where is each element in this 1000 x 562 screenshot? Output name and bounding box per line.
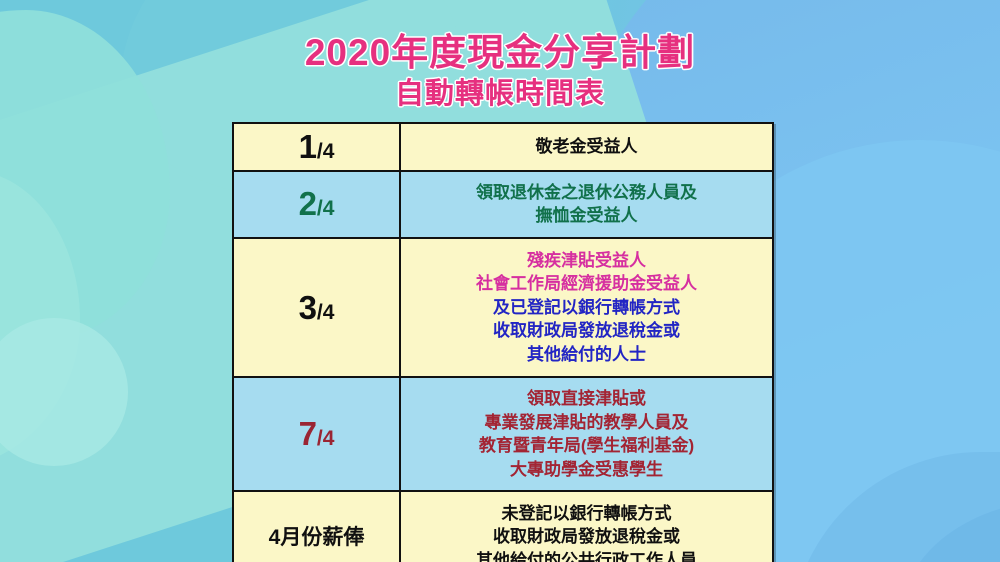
title-block: 2020年度現金分享計劃 自動轉帳時間表 bbox=[0, 32, 1000, 111]
date-day: 2 bbox=[299, 185, 317, 222]
page-title: 2020年度現金分享計劃 bbox=[0, 32, 1000, 73]
description-line: 及已登記以銀行轉帳方式 bbox=[407, 296, 766, 319]
description-line: 領取直接津貼或 bbox=[407, 387, 766, 410]
date-day: 3 bbox=[299, 289, 317, 326]
table-cell-description: 殘疾津貼受益人 社會工作局經濟援助金受益人 及已登記以銀行轉帳方式 收取財政局發… bbox=[400, 238, 773, 377]
table-row: 4月份薪俸 未登記以銀行轉帳方式 收取財政局發放退稅金或 其他給付的公共行政工作… bbox=[233, 491, 773, 562]
description-line: 專業發展津貼的教學人員及 bbox=[407, 411, 766, 434]
date-day: 1 bbox=[299, 128, 317, 165]
table-cell-date: 1/4 bbox=[233, 123, 400, 171]
table-row: 7/4 領取直接津貼或 專業發展津貼的教學人員及 教育暨青年局(學生福利基金) … bbox=[233, 377, 773, 491]
table-cell-date: 3/4 bbox=[233, 238, 400, 377]
description-line: 其他給付的公共行政工作人員 bbox=[407, 549, 766, 562]
date-month: /4 bbox=[317, 197, 335, 220]
slide-canvas: 2020年度現金分享計劃 自動轉帳時間表 1/4 敬老金受益人 bbox=[0, 0, 1000, 562]
description-line: 教育暨青年局(學生福利基金) bbox=[407, 434, 766, 457]
date-month: /4 bbox=[317, 140, 335, 163]
date-value: 2/4 bbox=[234, 181, 399, 227]
table-cell-description: 敬老金受益人 bbox=[400, 123, 773, 171]
description-line: 大專助學金受惠學生 bbox=[407, 458, 766, 481]
table-cell-description: 領取退休金之退休公務人員及 撫恤金受益人 bbox=[400, 171, 773, 238]
description-line: 撫恤金受益人 bbox=[407, 204, 766, 227]
date-value: 1/4 bbox=[234, 124, 399, 170]
table-cell-description: 未登記以銀行轉帳方式 收取財政局發放退稅金或 其他給付的公共行政工作人員 bbox=[400, 491, 773, 562]
date-month: /4 bbox=[317, 301, 335, 324]
description-text: 敬老金受益人 bbox=[401, 126, 772, 167]
table-cell-date: 2/4 bbox=[233, 171, 400, 238]
date-value: 7/4 bbox=[234, 411, 399, 457]
table-cell-description: 領取直接津貼或 專業發展津貼的教學人員及 教育暨青年局(學生福利基金) 大專助學… bbox=[400, 377, 773, 491]
date-value: 4月份薪俸 bbox=[234, 521, 399, 554]
date-day: 7 bbox=[299, 415, 317, 452]
description-text: 殘疾津貼受益人 社會工作局經濟援助金受益人 及已登記以銀行轉帳方式 收取財政局發… bbox=[401, 239, 772, 376]
description-line: 收取財政局發放退稅金或 bbox=[407, 319, 766, 342]
description-text: 領取直接津貼或 專業發展津貼的教學人員及 教育暨青年局(學生福利基金) 大專助學… bbox=[401, 378, 772, 490]
transfer-schedule-table: 1/4 敬老金受益人 2/4 領取退休金之退休公務人員及 bbox=[232, 122, 774, 562]
table-row: 1/4 敬老金受益人 bbox=[233, 123, 773, 171]
table-cell-date: 4月份薪俸 bbox=[233, 491, 400, 562]
date-month: /4 bbox=[317, 427, 335, 450]
table-cell-date: 7/4 bbox=[233, 377, 400, 491]
description-line: 殘疾津貼受益人 bbox=[407, 249, 766, 272]
table-row: 3/4 殘疾津貼受益人 社會工作局經濟援助金受益人 及已登記以銀行轉帳方式 收取… bbox=[233, 238, 773, 377]
page-subtitle: 自動轉帳時間表 bbox=[0, 78, 1000, 110]
description-line: 敬老金受益人 bbox=[407, 135, 766, 158]
table-body: 1/4 敬老金受益人 2/4 領取退休金之退休公務人員及 bbox=[233, 123, 773, 562]
description-line: 未登記以銀行轉帳方式 bbox=[407, 502, 766, 525]
description-line: 社會工作局經濟援助金受益人 bbox=[407, 272, 766, 295]
table-row: 2/4 領取退休金之退休公務人員及 撫恤金受益人 bbox=[233, 171, 773, 238]
description-text: 領取退休金之退休公務人員及 撫恤金受益人 bbox=[401, 172, 772, 237]
description-line: 其他給付的人士 bbox=[407, 343, 766, 366]
description-line: 領取退休金之退休公務人員及 bbox=[407, 181, 766, 204]
description-line: 收取財政局發放退稅金或 bbox=[407, 525, 766, 548]
description-text: 未登記以銀行轉帳方式 收取財政局發放退稅金或 其他給付的公共行政工作人員 bbox=[401, 492, 772, 562]
date-value: 3/4 bbox=[234, 285, 399, 331]
